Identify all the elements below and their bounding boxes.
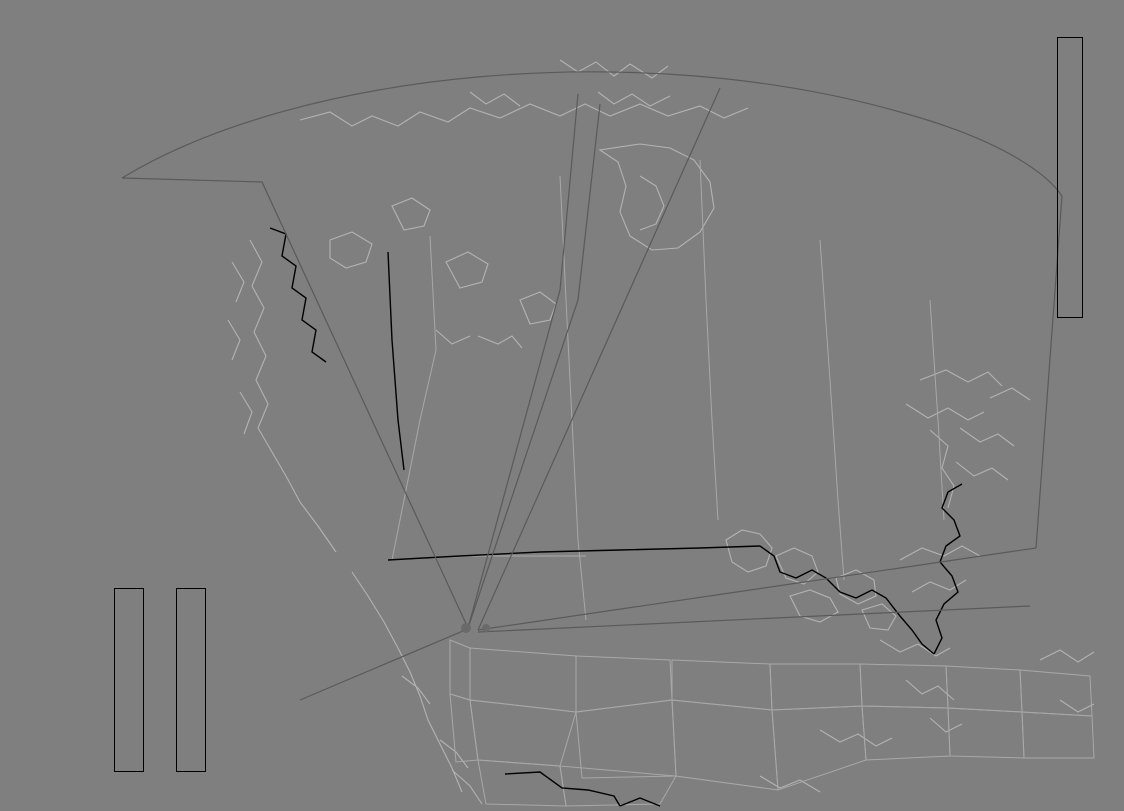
fov-boundary-layer	[122, 72, 1062, 700]
frequency-marker-cvw	[120, 712, 156, 717]
colorbar-swatches	[1057, 37, 1083, 318]
radar-site-cve	[482, 624, 490, 632]
radar-site-cvw	[461, 623, 471, 633]
international-borders-layer	[270, 228, 962, 806]
frequency-column-cvw	[114, 588, 144, 772]
frequency-column-cve	[176, 588, 206, 772]
frequency-marker-cve	[176, 716, 212, 721]
basemap	[0, 0, 1124, 811]
state-borders-layer	[392, 160, 1094, 806]
coastlines-layer	[228, 60, 1094, 804]
radar-map-figure	[0, 0, 1124, 811]
